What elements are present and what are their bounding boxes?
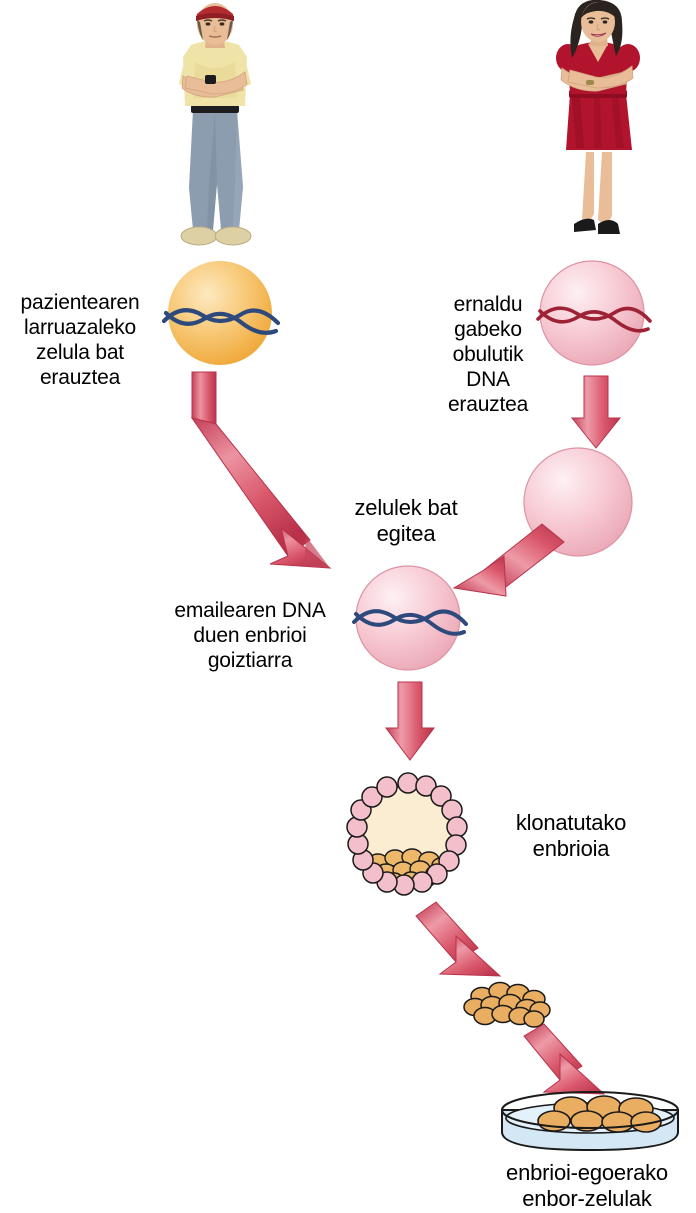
label-extract-egg-dna: ernaldu gabeko obulutik DNA erauztea xyxy=(408,292,568,417)
early-embryo-cell xyxy=(352,562,468,678)
therapeutic-cloning-diagram: pazientearen larruazaleko zelula bat era… xyxy=(0,0,696,1213)
woman-egg-donor-figure xyxy=(538,2,658,250)
label-stem-cells: enbrioi-egoerako enbor-zelulak xyxy=(478,1160,696,1212)
somatic-skin-cell xyxy=(162,257,282,375)
blastocyst xyxy=(344,772,474,896)
label-cloned-embryo: klonatutako enbrioia xyxy=(466,810,676,862)
label-fuse-cells: zelulek bat egitea xyxy=(312,495,500,547)
label-extract-skin-cell: pazientearen larruazaleko zelula bat era… xyxy=(0,290,160,390)
arrow-embryo-to-blastocyst xyxy=(382,680,438,762)
arrow-blastocyst-to-cluster xyxy=(412,900,516,986)
stem-cell-culture-dish xyxy=(494,1084,690,1164)
label-early-embryo: emailearen DNA duen enbrioi goiztiarra xyxy=(140,598,360,673)
arrow-egg-to-enucleated xyxy=(568,374,624,450)
man-patient-figure xyxy=(155,2,275,250)
